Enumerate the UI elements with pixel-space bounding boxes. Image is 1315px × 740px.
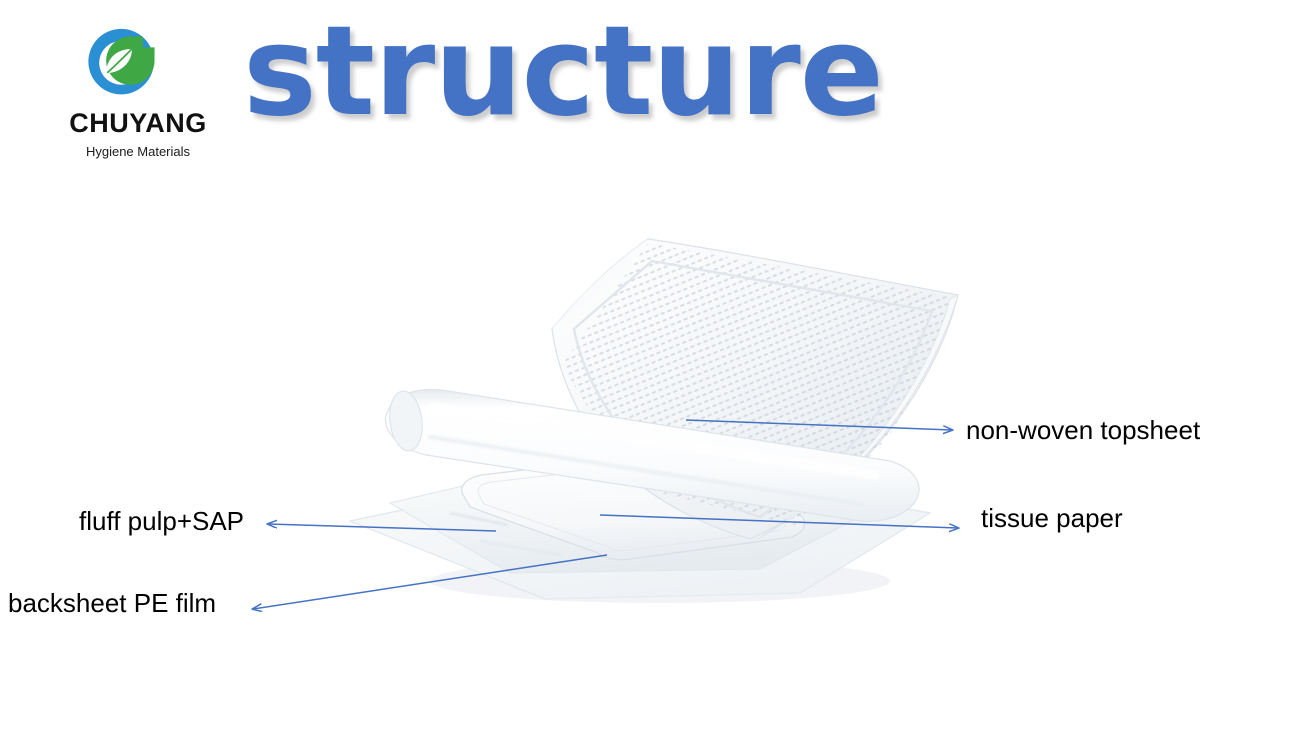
brand-wordmark: CHUYANG xyxy=(52,110,224,137)
callout-label-backsheet-pe-film: backsheet PE film xyxy=(8,590,216,616)
page-title: structure xyxy=(243,6,883,140)
callout-label-tissue-paper: tissue paper xyxy=(981,505,1123,531)
product-illustration xyxy=(330,225,980,625)
slide-canvas: CHUYANG Hygiene Materials structure xyxy=(0,0,1315,740)
brand-tagline: Hygiene Materials xyxy=(52,145,224,158)
brand-logo: CHUYANG Hygiene Materials xyxy=(52,24,224,172)
leaf-in-circle-logo-icon xyxy=(82,24,160,102)
callout-label-fluff-pulp-sap: fluff pulp+SAP xyxy=(79,508,244,534)
callout-label-non-woven-topsheet: non-woven topsheet xyxy=(966,417,1200,443)
